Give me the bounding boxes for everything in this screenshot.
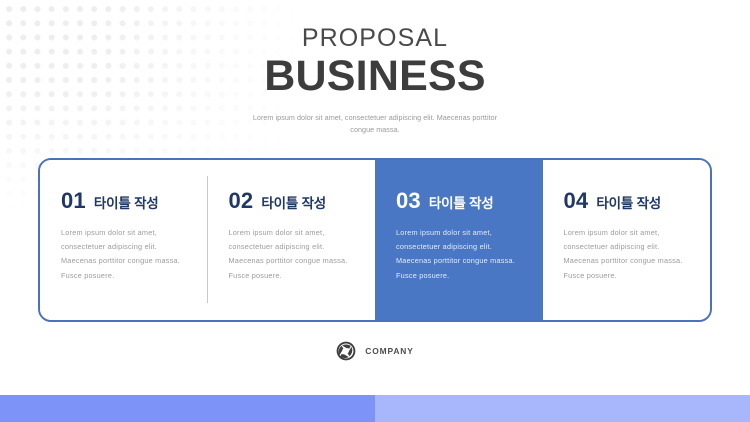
slide-header: PROPOSAL BUSINESS Lorem ipsum dolor sit …: [0, 25, 750, 137]
bottom-bar-left-segment: [0, 395, 375, 422]
card-heading: 02 타이틀 작성: [229, 190, 359, 212]
slide-footer: COMPANY: [0, 341, 750, 361]
card-item-01[interactable]: 01 타이틀 작성 Lorem ipsum dolor sit amet, co…: [40, 160, 208, 320]
company-name: COMPANY: [365, 346, 414, 356]
cards-frame: 01 타이틀 작성 Lorem ipsum dolor sit amet, co…: [38, 158, 712, 322]
card-title: 타이틀 작성: [596, 197, 661, 211]
card-heading: 03 타이틀 작성: [396, 190, 526, 212]
slide-canvas: PROPOSAL BUSINESS Lorem ipsum dolor sit …: [0, 0, 750, 422]
card-body-text: Lorem ipsum dolor sit amet, consectetuer…: [564, 226, 692, 283]
bottom-accent-bar: [0, 395, 750, 422]
card-heading: 01 타이틀 작성: [61, 190, 191, 212]
card-number: 04: [564, 190, 589, 212]
card-number: 01: [61, 190, 86, 212]
card-body-text: Lorem ipsum dolor sit amet, consectetuer…: [396, 226, 524, 283]
title-kicker: PROPOSAL: [0, 25, 750, 51]
card-item-02[interactable]: 02 타이틀 작성 Lorem ipsum dolor sit amet, co…: [208, 160, 376, 320]
bottom-bar-right-segment: [375, 395, 750, 422]
card-title: 타이틀 작성: [94, 197, 159, 211]
card-item-04[interactable]: 04 타이틀 작성 Lorem ipsum dolor sit amet, co…: [543, 160, 711, 320]
card-title: 타이틀 작성: [261, 197, 326, 211]
card-number: 03: [396, 190, 421, 212]
aperture-shutter-icon: [336, 341, 356, 361]
card-item-03[interactable]: 03 타이틀 작성 Lorem ipsum dolor sit amet, co…: [375, 160, 543, 320]
card-title: 타이틀 작성: [429, 197, 494, 211]
header-subtitle: Lorem ipsum dolor sit amet, consectetuer…: [250, 112, 500, 137]
card-number: 02: [229, 190, 254, 212]
card-body-text: Lorem ipsum dolor sit amet, consectetuer…: [61, 226, 189, 283]
card-body-text: Lorem ipsum dolor sit amet, consectetuer…: [229, 226, 357, 283]
card-heading: 04 타이틀 작성: [564, 190, 694, 212]
page-title: BUSINESS: [0, 53, 750, 99]
